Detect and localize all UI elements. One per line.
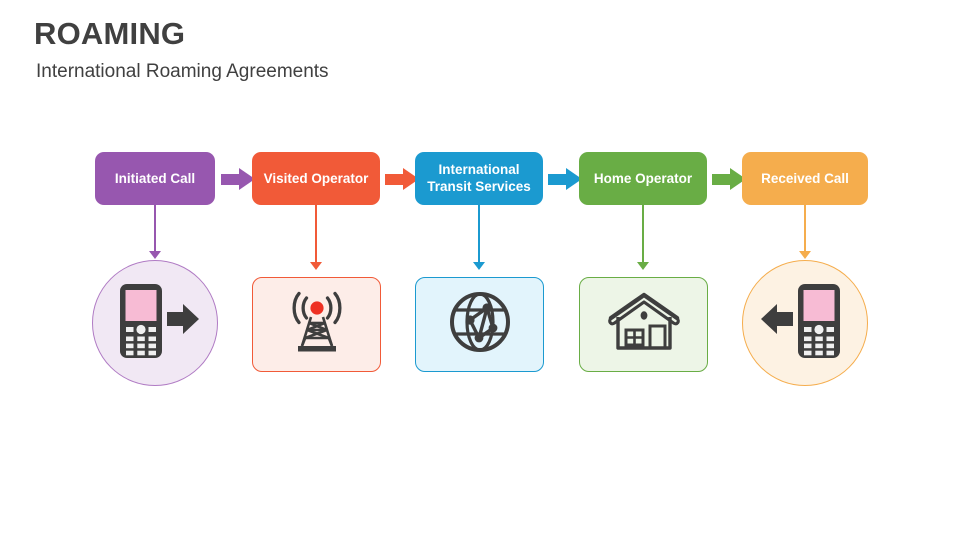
vconnector-visited-operator: [310, 205, 322, 270]
vconnector-arrowhead: [637, 262, 649, 270]
vconnector-shaft: [154, 205, 156, 251]
icon-container-initiated-call: [92, 260, 218, 386]
step-label-chip-initiated-call[interactable]: Initiated Call: [95, 152, 215, 205]
step-label-text: Home Operator: [594, 171, 692, 187]
step-label-chip-international-transit-services[interactable]: International Transit Services: [415, 152, 543, 205]
step-label-text-line1: International: [438, 162, 519, 179]
connector-arrow-initiated-to-visited: [221, 168, 255, 190]
flow-step-international-transit-services[interactable]: International Transit Services: [415, 152, 543, 205]
vconnector-shaft: [478, 205, 480, 262]
house-icon: [605, 290, 683, 359]
vconnector-shaft: [642, 205, 644, 262]
mobile-phone-outgoing-icon: [107, 278, 203, 369]
icon-container-home-operator: [579, 277, 708, 372]
step-label-text-line2: Transit Services: [427, 179, 531, 196]
roaming-flow-diagram: Initiated Call: [0, 0, 960, 540]
flow-step-home-operator[interactable]: Home Operator: [579, 152, 707, 205]
step-label-chip-visited-operator[interactable]: Visited Operator: [252, 152, 380, 205]
vconnector-arrowhead: [149, 251, 161, 259]
connector-arrow-visited-to-transit: [385, 168, 419, 190]
icon-container-received-call: [742, 260, 868, 386]
slide-canvas: ROAMING International Roaming Agreements…: [0, 0, 960, 540]
step-label-text: Visited Operator: [264, 171, 369, 187]
flow-step-initiated-call[interactable]: Initiated Call: [95, 152, 215, 205]
step-label-text: Received Call: [761, 171, 849, 187]
mobile-phone-incoming-icon: [757, 278, 853, 369]
connector-shaft: [221, 174, 241, 185]
vconnector-arrowhead: [799, 251, 811, 259]
step-label-chip-received-call[interactable]: Received Call: [742, 152, 868, 205]
flow-step-visited-operator[interactable]: Visited Operator: [252, 152, 380, 205]
icon-container-visited-operator: [252, 277, 381, 372]
connector-arrow-home-to-received: [712, 168, 746, 190]
step-label-chip-home-operator[interactable]: Home Operator: [579, 152, 707, 205]
icon-container-international-transit-services: [415, 277, 544, 372]
vconnector-home-operator: [637, 205, 649, 270]
connector-shaft: [385, 174, 405, 185]
vconnector-arrowhead: [310, 262, 322, 270]
connector-arrow-transit-to-home: [548, 168, 582, 190]
vconnector-shaft: [315, 205, 317, 262]
vconnector-received-call: [799, 205, 811, 259]
globe-network-icon: [446, 288, 514, 361]
flow-step-received-call[interactable]: Received Call: [742, 152, 868, 205]
cell-tower-icon: [282, 288, 352, 361]
connector-shaft: [548, 174, 568, 185]
vconnector-shaft: [804, 205, 806, 251]
vconnector-initiated-call: [149, 205, 161, 259]
step-label-text: Initiated Call: [115, 171, 195, 187]
connector-shaft: [712, 174, 732, 185]
vconnector-arrowhead: [473, 262, 485, 270]
vconnector-international-transit-services: [473, 205, 485, 270]
